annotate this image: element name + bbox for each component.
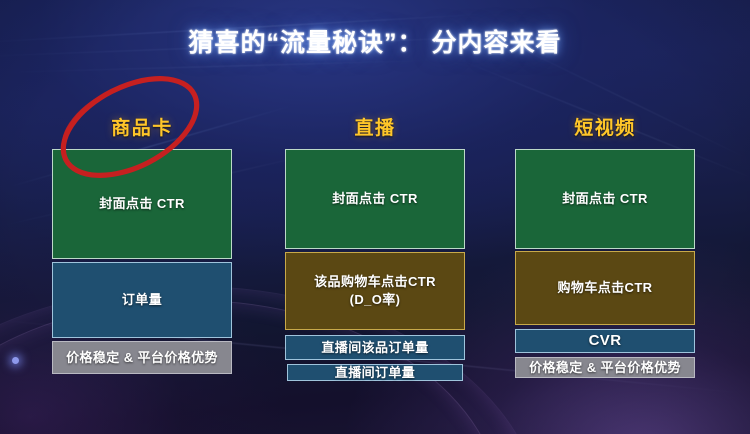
background-glow-dot [12, 357, 19, 364]
slide-title: 猜喜的“流量秘诀”： 分内容来看 [0, 23, 750, 59]
metric-box-cover-click-ctr-short-video: 封面点击 CTR [515, 149, 695, 249]
metric-box-cart-click-ctr-livestream-line2: (D_O率) [350, 291, 401, 309]
metric-box-cart-click-ctr-livestream: 该品购物车点击CTR (D_O率) [285, 252, 465, 330]
metric-box-cart-click-ctr-livestream-line1: 该品购物车点击CTR [314, 273, 436, 291]
metric-box-order-volume-product-card: 订单量 [52, 262, 232, 338]
metric-box-room-order-volume-livestream: 直播间订单量 [287, 364, 463, 381]
metric-box-price-advantage-short-video: 价格稳定 & 平台价格优势 [515, 357, 695, 378]
metric-box-product-order-volume-livestream: 直播间该品订单量 [285, 335, 465, 360]
column-header-short-video: 短视频 [515, 113, 695, 140]
column-header-product-card: 商品卡 [52, 113, 232, 140]
metric-box-cart-click-ctr-short-video: 购物车点击CTR [515, 251, 695, 325]
metric-box-cover-click-ctr-product-card: 封面点击 CTR [52, 149, 232, 259]
background-streak [0, 59, 450, 73]
column-header-livestream: 直播 [285, 113, 465, 140]
metric-box-cvr-short-video: CVR [515, 329, 695, 353]
metric-box-cover-click-ctr-livestream: 封面点击 CTR [285, 149, 465, 249]
metric-box-price-advantage-product-card: 价格稳定 & 平台价格优势 [52, 341, 232, 374]
presentation-slide: 猜喜的“流量秘诀”： 分内容来看 商品卡 封面点击 CTR 订单量 价格稳定 &… [0, 0, 750, 434]
